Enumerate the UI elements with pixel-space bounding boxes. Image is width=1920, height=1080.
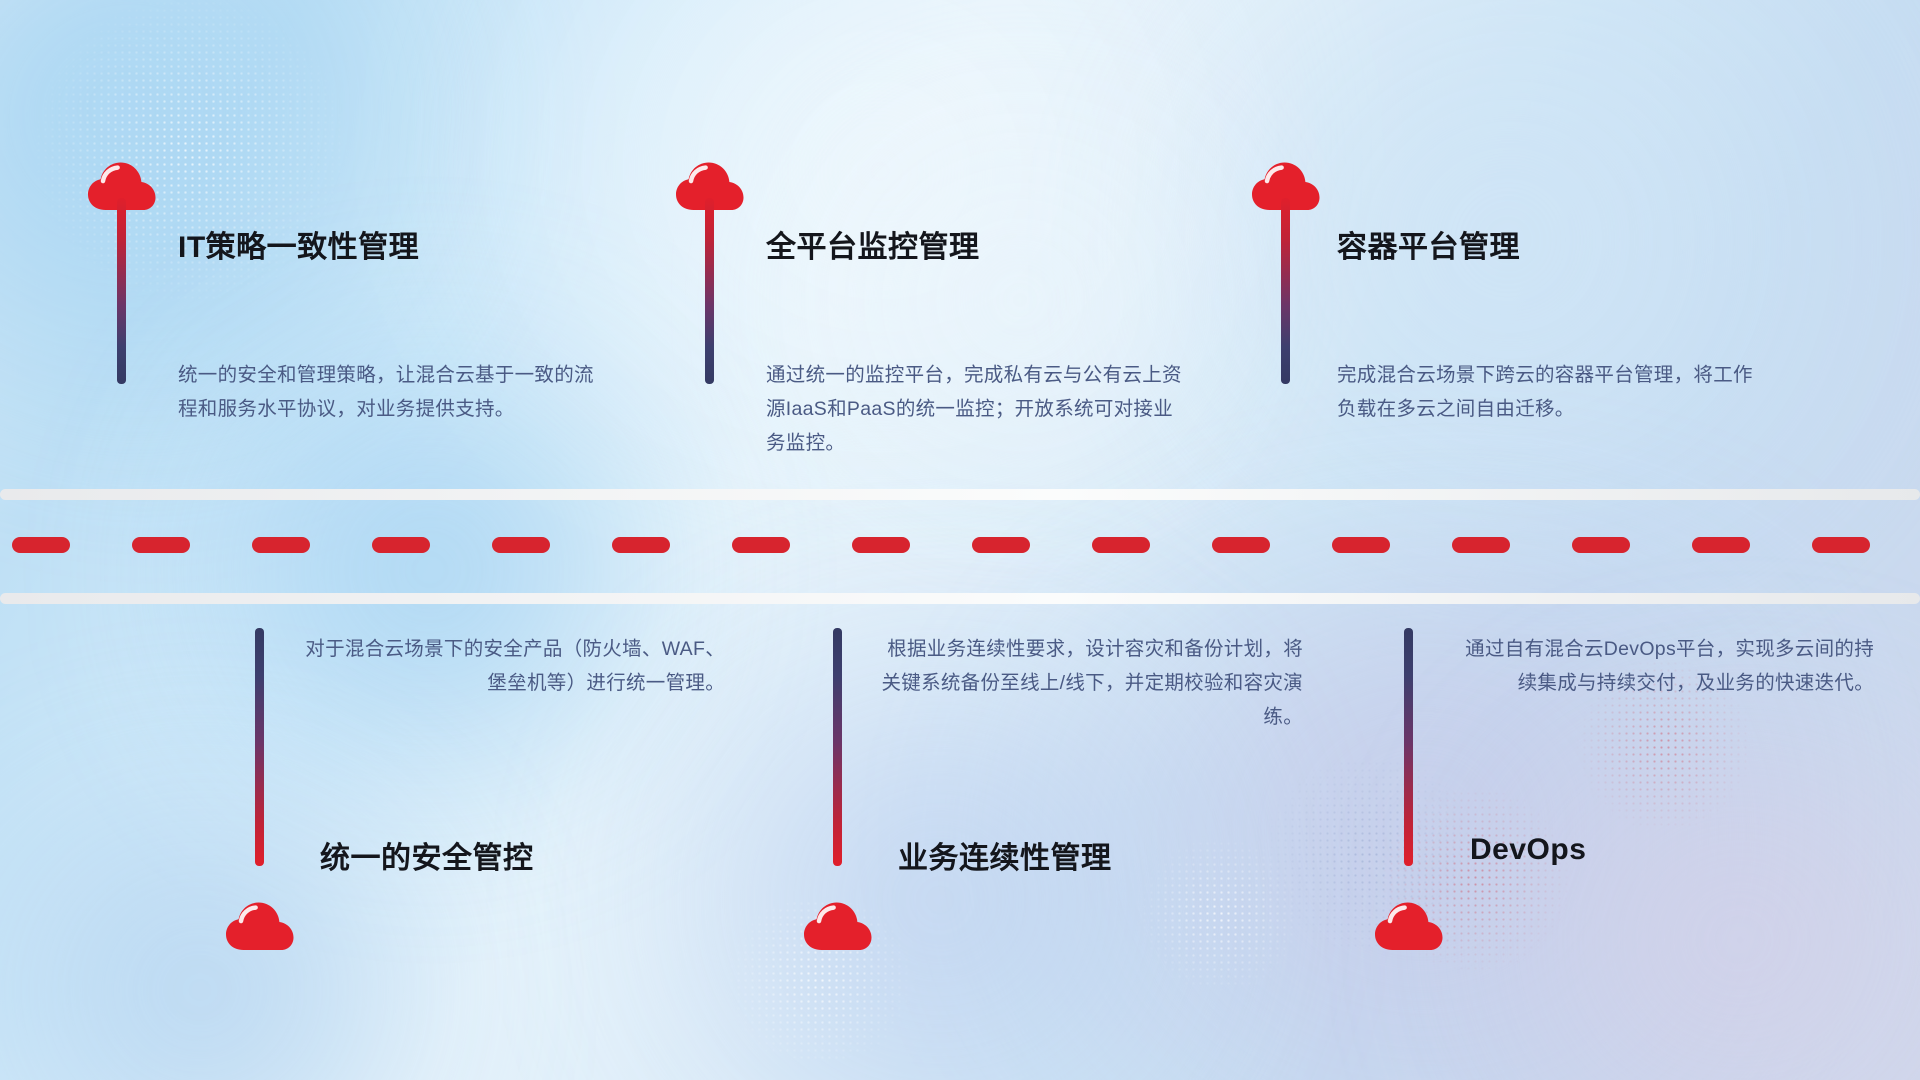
stem-line <box>705 198 714 384</box>
item-title: 容器平台管理 <box>1337 222 1520 266</box>
road-edge-bottom <box>0 593 1920 604</box>
stem-line <box>1404 628 1413 866</box>
item-title: IT策略一致性管理 <box>178 222 419 266</box>
item-title: 业务连续性管理 <box>898 833 1112 877</box>
cloud-pin-icon <box>224 900 296 952</box>
item-description: 完成混合云场景下跨云的容器平台管理，将工作负载在多云之间自由迁移。 <box>1337 358 1762 426</box>
road-dash <box>612 537 670 553</box>
road-dash <box>1092 537 1150 553</box>
road-dash <box>1692 537 1750 553</box>
road-dash <box>972 537 1030 553</box>
road-dash <box>1572 537 1630 553</box>
item-title: DevOps <box>1470 833 1586 867</box>
item-description: 对于混合云场景下的安全产品（防火墙、WAF、堡垒机等）进行统一管理。 <box>300 632 725 700</box>
road-dash <box>732 537 790 553</box>
road-dash <box>132 537 190 553</box>
road-dash <box>1452 537 1510 553</box>
road-divider <box>0 489 1920 604</box>
dot-texture <box>1120 840 1320 990</box>
cloud-pin-icon <box>1373 900 1445 952</box>
road-dash <box>372 537 430 553</box>
stem-line <box>833 628 842 866</box>
road-dash <box>1212 537 1270 553</box>
item-title: 统一的安全管控 <box>320 833 534 877</box>
road-edge-top <box>0 489 1920 500</box>
road-dash <box>492 537 550 553</box>
stem-line <box>117 198 126 384</box>
item-description: 统一的安全和管理策略，让混合云基于一致的流程和服务水平协议，对业务提供支持。 <box>178 358 603 426</box>
road-dash <box>852 537 910 553</box>
road-dash <box>1812 537 1870 553</box>
stem-line <box>1281 198 1290 384</box>
item-description: 通过统一的监控平台，完成私有云与公有云上资源IaaS和PaaS的统一监控；开放系… <box>766 358 1191 460</box>
road-dash <box>12 537 70 553</box>
item-description: 通过自有混合云DevOps平台，实现多云间的持续集成与持续交付，及业务的快速迭代… <box>1449 632 1874 700</box>
road-dash <box>1332 537 1390 553</box>
item-description: 根据业务连续性要求，设计容灾和备份计划，将关键系统备份至线上/线下，并定期校验和… <box>878 632 1303 734</box>
item-title: 全平台监控管理 <box>766 222 980 266</box>
stem-line <box>255 628 264 866</box>
road-dash <box>252 537 310 553</box>
cloud-pin-icon <box>802 900 874 952</box>
